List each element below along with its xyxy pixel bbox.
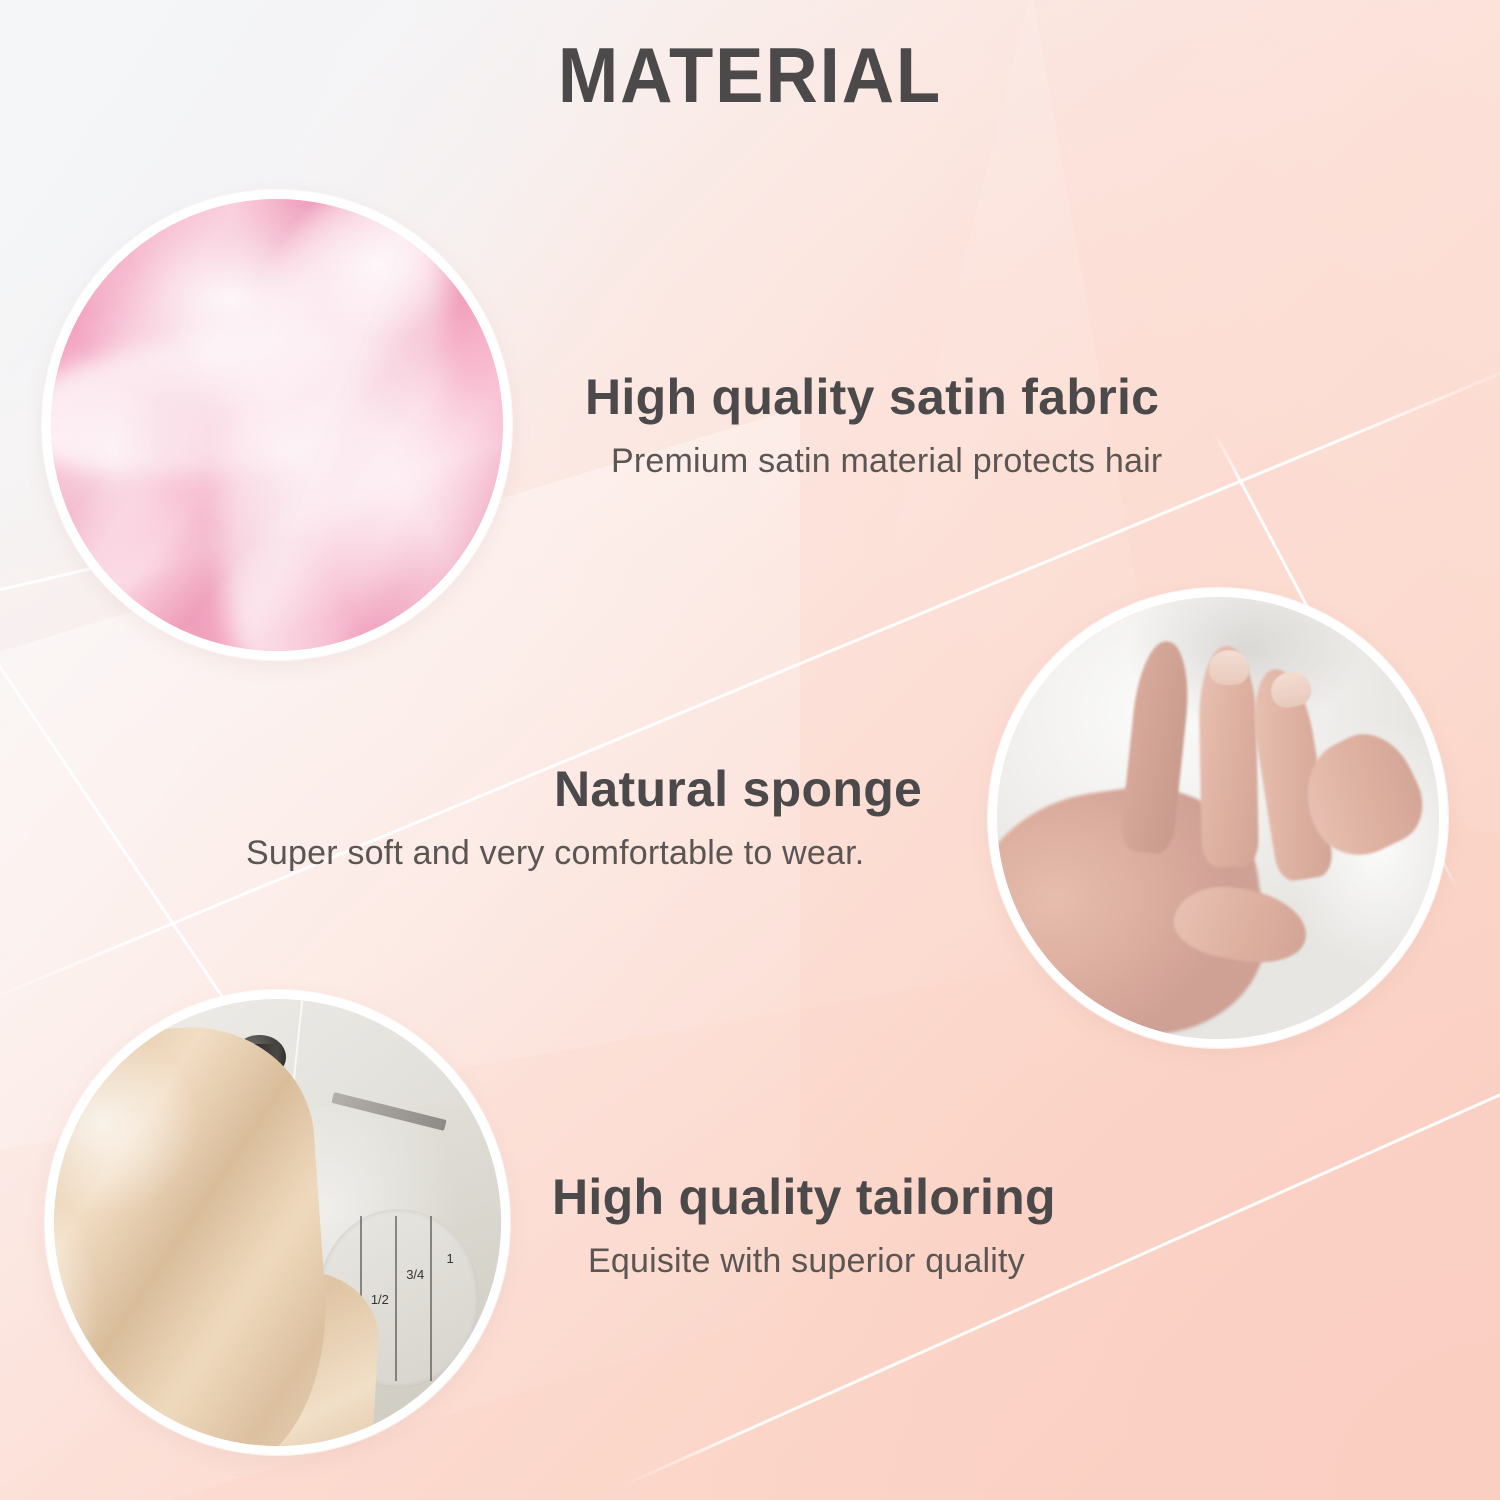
- seam-mark-three-quarter: 3/4: [406, 1268, 424, 1282]
- feature-text-tailoring: High quality tailoring Equisite with sup…: [552, 1168, 1056, 1281]
- seam-guide-line: [430, 1216, 432, 1380]
- feature-heading: High quality satin fabric: [585, 368, 1162, 426]
- fingernail-middle: [1209, 650, 1249, 685]
- page-title: MATERIAL: [53, 30, 1448, 121]
- feature-image-natural-sponge: [988, 588, 1448, 1048]
- satin-fabric-texture: [51, 199, 503, 651]
- feature-subtext: Premium satin material protects hair: [611, 442, 1162, 481]
- seam-mark-half: 1/2: [371, 1293, 389, 1307]
- sewing-machine-scene: 1/4 1/2 3/4 1: [54, 999, 501, 1446]
- feature-text-natural-sponge: Natural sponge Super soft and very comfo…: [246, 760, 922, 873]
- feature-subtext: Super soft and very comfortable to wear.: [246, 834, 922, 873]
- feature-text-satin-fabric: High quality satin fabric Premium satin …: [585, 368, 1162, 481]
- feature-heading: Natural sponge: [554, 760, 922, 818]
- seam-mark-one: 1: [446, 1252, 453, 1266]
- seam-guide-line: [395, 1216, 397, 1380]
- feature-heading: High quality tailoring: [552, 1168, 1056, 1226]
- sponge-foam-surface: [997, 597, 1439, 1039]
- feature-subtext: Equisite with superior quality: [588, 1242, 1056, 1281]
- feature-image-satin-fabric: [42, 190, 512, 660]
- champagne-satin-fabric: [45, 1019, 337, 1455]
- feature-image-tailoring: 1/4 1/2 3/4 1: [45, 990, 510, 1455]
- infographic-canvas: MATERIAL: [0, 0, 1500, 1500]
